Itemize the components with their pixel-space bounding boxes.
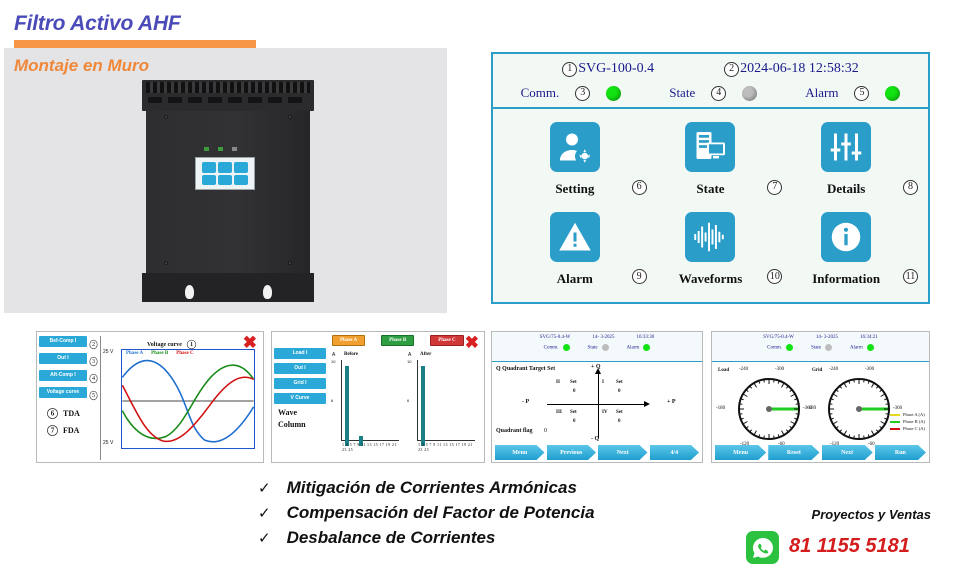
quadrant-title: Q Quadrant Target Set xyxy=(496,366,555,372)
comm-led-indicator xyxy=(786,344,793,351)
feature-item: ✓ Desbalance de Corrientes xyxy=(258,528,595,548)
waveform-icon xyxy=(685,212,735,262)
product-subtitle: Montaje en Muro xyxy=(14,56,149,76)
state-led-indicator xyxy=(825,344,832,351)
menu-label-alarm: Alarm xyxy=(557,271,593,287)
callout-badge-2: 2 xyxy=(89,340,97,349)
quadrant-date-label: 14- 3-2025 xyxy=(592,335,614,340)
callout-badge-3: 3 xyxy=(575,86,590,101)
voltage-curve-legend: Phase A Phase B Phase C xyxy=(126,351,194,356)
screw-icon xyxy=(164,261,168,265)
voltage-axis-max-label: 25 V xyxy=(103,349,113,355)
voltage-axis-min-label: 25 V xyxy=(103,440,113,446)
quadrant-axis-horizontal xyxy=(547,404,647,405)
sidebar-button-voltage-curve[interactable]: Voltage curve xyxy=(39,387,87,398)
chart-unit-label: A xyxy=(408,352,411,358)
dial-title-grid: Grid xyxy=(812,368,822,373)
voltage-curve-sidebar: Bef-Comp I 2 Out I 3 Aft-Comp I 4 Voltag… xyxy=(39,336,101,460)
dial2-tick-360: -360 xyxy=(893,406,902,411)
dial2-tick-180: -180 xyxy=(807,406,816,411)
screenshot-voltage-curve: Bef-Comp I 2 Out I 3 Aft-Comp I 4 Voltag… xyxy=(36,331,264,463)
user-gear-icon xyxy=(550,122,600,172)
sidebar-button-out-i[interactable]: Out I xyxy=(39,353,87,364)
cabinet-hmi-screen xyxy=(195,157,255,190)
sidebar-button-load-i[interactable]: Load I xyxy=(274,348,326,359)
dial1-tick-240: -240 xyxy=(739,367,748,372)
callout-badge-9: 9 xyxy=(632,269,647,284)
sidebar-button-out-i[interactable]: Out I xyxy=(274,363,326,374)
feature-text: Mitigación de Corrientes Armónicas xyxy=(287,478,577,498)
cabinet-body xyxy=(146,111,310,273)
hmi-status-bar: 1 SVG-100-0.4 2 2024-06-18 12:58:32 Comm… xyxy=(493,54,928,109)
axis-label-minus-p: - P xyxy=(522,399,529,405)
phase-tab-group: Phase A Phase B Phase C xyxy=(332,335,464,346)
comm-led-indicator xyxy=(563,344,570,351)
axis-label-plus-q: + Q xyxy=(591,364,601,370)
tab-phase-a[interactable]: Phase A xyxy=(332,335,365,346)
tab-phase-c[interactable]: Phase C xyxy=(430,335,463,346)
product-image-panel: Montaje en Muro xyxy=(4,48,447,313)
screenshot-harmonic-columns: Phase A Phase B Phase C ✖ Load I Out I G… xyxy=(271,331,485,463)
quadrant-value-i[interactable]: 0 xyxy=(618,389,621,394)
axis-arrow-icon xyxy=(644,401,650,407)
screw-icon xyxy=(288,115,292,119)
legend-phase-b: Phase B (A) xyxy=(903,419,925,424)
dial-title-load: Load xyxy=(718,368,729,373)
sliders-icon xyxy=(821,122,871,172)
screw-icon xyxy=(288,261,292,265)
menu-item-state[interactable]: 7 State xyxy=(643,115,779,205)
quadrant-roman-iii: III xyxy=(556,410,562,415)
dial2-tick-240: -240 xyxy=(829,367,838,372)
callout-badge-3: 3 xyxy=(89,357,97,366)
callout-badge-4: 4 xyxy=(89,374,97,383)
chart-caption-after: After xyxy=(420,352,431,357)
legend-phase-c: Phase C (A) xyxy=(903,426,925,431)
voltage-curve-plot: Phase A Phase B Phase C xyxy=(121,349,255,449)
dial1-tick-180: -180 xyxy=(716,406,725,411)
feature-text: Compensación del Factor de Potencia xyxy=(287,503,595,523)
phasor-button-bar: Menu Reset Next Run xyxy=(712,445,929,460)
mounting-hole-icon xyxy=(185,285,194,299)
contact-phone[interactable]: 81 1155 5181 xyxy=(789,535,910,558)
quadrant-value-iv[interactable]: 0 xyxy=(618,419,621,424)
menu-label-waveforms: Waveforms xyxy=(679,271,743,287)
menu-label-details: Details xyxy=(827,181,865,197)
axis-label-minus-q: - Q xyxy=(591,436,599,442)
voltage-curve-title-text: Voltage curve xyxy=(147,342,182,348)
sidebar-item-fda[interactable]: 7 FDA xyxy=(45,423,100,438)
quadrant-set-label-iii: Set xyxy=(570,410,577,415)
screenshot-phasor-dials: SVG/75-0.4-W 14- 3-2025 16:34:21 Comm. S… xyxy=(711,331,930,463)
status-state-label: State xyxy=(669,85,695,101)
quadrant-status-alarm: Alarm xyxy=(627,344,651,351)
feature-text: Desbalance de Corrientes xyxy=(287,528,496,548)
button-run[interactable]: Run xyxy=(875,445,926,460)
check-icon: ✓ xyxy=(258,529,271,547)
sidebar-button-v-curve[interactable]: V Curve xyxy=(274,393,326,404)
button-next[interactable]: Next xyxy=(598,445,648,460)
screw-icon xyxy=(164,115,168,119)
check-icon: ✓ xyxy=(258,504,271,522)
tab-phase-b[interactable]: Phase B xyxy=(381,335,414,346)
quadrant-flag-value[interactable]: 0 xyxy=(544,428,547,434)
server-monitor-icon xyxy=(685,122,735,172)
cabinet-top-vents xyxy=(142,80,314,111)
status-comm: Comm. 3 xyxy=(521,85,622,101)
dial2-tick-300: -300 xyxy=(865,367,874,372)
button-next[interactable]: Next xyxy=(822,445,873,460)
state-led-indicator xyxy=(742,86,757,101)
phasor-time-label: 16:34:21 xyxy=(860,335,878,340)
callout-badge-6: 6 xyxy=(47,408,58,419)
quadrant-value-iii[interactable]: 0 xyxy=(573,419,576,424)
y-tick-10: 10 xyxy=(331,359,335,364)
screenshot-q-quadrant: SVG/75-0.4-W 14- 3-2025 16:33:30 Comm. S… xyxy=(491,331,703,463)
x-axis-ticks: 1 3 5 7 9 11 13 15 17 19 21 23 25 xyxy=(418,442,476,452)
quadrant-status-comm: Comm. xyxy=(544,344,570,351)
sidebar-button-bef-comp-i[interactable]: Bef-Comp I xyxy=(39,336,87,347)
status-state: State 4 xyxy=(669,85,757,101)
phasor-status-state: State xyxy=(811,344,832,351)
callout-badge-1: 1 xyxy=(187,340,196,349)
quadrant-set-label-i: Set xyxy=(616,380,623,385)
info-circle-icon xyxy=(821,212,871,262)
sidebar-label-wave[interactable]: Wave xyxy=(278,408,330,417)
callout-badge-6: 6 xyxy=(632,180,647,195)
menu-label-state: State xyxy=(696,181,724,197)
mounting-hole-icon xyxy=(263,285,272,299)
feature-item: ✓ Compensación del Factor de Potencia xyxy=(258,503,595,523)
bar-order-1 xyxy=(345,366,349,446)
callout-badge-8: 8 xyxy=(903,180,918,195)
sidebar-button-aft-comp-i[interactable]: Aft-Comp I xyxy=(39,370,87,381)
comm-led-indicator xyxy=(606,86,621,101)
hmi-menu-grid: 6 Setting 7 State 8 Details 9 Alarm xyxy=(493,109,928,302)
state-led-indicator xyxy=(602,344,609,351)
whatsapp-icon[interactable] xyxy=(746,531,779,564)
phasor-dial-grid xyxy=(828,378,890,440)
sidebar-label-tda: TDA xyxy=(63,409,80,418)
quadrant-status-bar: SVG/75-0.4-W 14- 3-2025 16:33:30 Comm. S… xyxy=(492,332,702,362)
feature-item: ✓ Mitigación de Corrientes Armónicas xyxy=(258,478,595,498)
status-comm-label: Comm. xyxy=(521,85,560,101)
phasor-legend: Phase A (A) Phase B (A) Phase C (A) xyxy=(890,412,925,433)
vent-grille-icon xyxy=(146,82,310,93)
phasor-model-label: SVG/75-0.4-W xyxy=(763,335,794,340)
menu-label-information: Information xyxy=(812,271,880,287)
page-title: Filtro Activo AHF xyxy=(14,12,181,36)
quadrant-time-label: 16:33:30 xyxy=(637,335,655,340)
dial1-hub xyxy=(766,406,772,412)
harmonic-chart-after: A After 10 6 1 3 5 7 9 11 13 15 17 19 21… xyxy=(408,350,476,456)
quadrant-set-label-ii: Set xyxy=(570,380,577,385)
callout-badge-2: 2 xyxy=(724,62,739,77)
phasor-status-alarm: Alarm xyxy=(850,344,874,351)
button-reset[interactable]: Reset xyxy=(768,445,819,460)
phasor-status-bar: SVG/75-0.4-W 14- 3-2025 16:34:21 Comm. S… xyxy=(712,332,929,362)
quadrant-roman-i: I xyxy=(602,380,604,385)
menu-item-information[interactable]: 11 Information xyxy=(778,205,914,295)
legend-phase-b: Phase B xyxy=(151,351,168,356)
dial2-hub xyxy=(856,406,862,412)
y-tick-10: 10 xyxy=(407,359,411,364)
quadrant-model-label: SVG/75-0.4-W xyxy=(540,335,571,340)
hmi-model-label: SVG-100-0.4 xyxy=(578,61,654,77)
voltage-sine-waves xyxy=(122,350,254,448)
x-axis-ticks: 1 3 5 7 9 11 13 15 17 19 21 23 25 xyxy=(342,442,400,452)
sidebar-label-fda: FDA xyxy=(63,426,79,435)
menu-label-setting: Setting xyxy=(555,181,594,197)
legend-phase-a: Phase A xyxy=(126,351,143,356)
button-menu[interactable]: Menu xyxy=(495,445,545,460)
alarm-led-indicator xyxy=(885,86,900,101)
menu-item-alarm[interactable]: 9 Alarm xyxy=(507,205,643,295)
quadrant-axis-vertical xyxy=(598,372,599,438)
sidebar-item-tda[interactable]: 6 TDA xyxy=(45,406,100,421)
menu-item-setting[interactable]: 6 Setting xyxy=(507,115,643,205)
warning-triangle-icon xyxy=(550,212,600,262)
legend-phase-a: Phase A (A) xyxy=(903,412,925,417)
axis-label-plus-p: + P xyxy=(667,399,676,405)
cabinet-status-leds xyxy=(204,147,246,151)
phasor-dial-load xyxy=(738,378,800,440)
quadrant-button-bar: Menu Previous Next 4/4 xyxy=(492,445,702,460)
button-menu[interactable]: Menu xyxy=(715,445,766,460)
callout-badge-5: 5 xyxy=(854,86,869,101)
hmi-main-screen: 1 SVG-100-0.4 2 2024-06-18 12:58:32 Comm… xyxy=(491,52,930,304)
wall-mounted-cabinet-image xyxy=(142,80,314,302)
button-page-indicator[interactable]: 4/4 xyxy=(650,445,700,460)
menu-item-details[interactable]: 8 Details xyxy=(778,115,914,205)
chart-unit-label: A xyxy=(332,352,335,358)
cabinet-mounting-base xyxy=(142,273,314,302)
hmi-datetime-label: 2024-06-18 12:58:32 xyxy=(740,61,859,77)
menu-item-waveforms[interactable]: 10 Waveforms xyxy=(643,205,779,295)
callout-badge-1: 1 xyxy=(562,62,577,77)
phasor-status-comm: Comm. xyxy=(767,344,793,351)
feature-list: ✓ Mitigación de Corrientes Armónicas ✓ C… xyxy=(258,478,595,553)
vent-slots-icon xyxy=(148,97,308,103)
status-alarm: Alarm 5 xyxy=(805,85,900,101)
sidebar-label-column[interactable]: Column xyxy=(278,420,330,429)
quadrant-roman-ii: II xyxy=(556,380,560,385)
chart-caption-before: Before xyxy=(344,352,358,357)
close-icon[interactable]: ✖ xyxy=(465,334,479,351)
phasor-date-label: 14- 3-2025 xyxy=(816,335,838,340)
callout-badge-4: 4 xyxy=(711,86,726,101)
check-icon: ✓ xyxy=(258,479,271,497)
callout-badge-11: 11 xyxy=(903,269,918,284)
quadrant-flag-label: Quadrant flag xyxy=(496,428,533,434)
callout-badge-7: 7 xyxy=(47,425,58,436)
quadrant-status-state: State xyxy=(588,344,609,351)
contact-title: Proyectos y Ventas xyxy=(812,507,931,522)
y-tick-6: 6 xyxy=(407,398,409,403)
y-tick-6: 6 xyxy=(331,398,333,403)
quadrant-set-label-iv: Set xyxy=(616,410,623,415)
callout-badge-5: 5 xyxy=(89,391,97,400)
quadrant-value-ii[interactable]: 0 xyxy=(573,389,576,394)
quadrant-roman-iv: IV xyxy=(602,410,608,415)
harmonic-sidebar: Load I Out I Grid I V Curve Wave Column xyxy=(274,348,330,429)
sidebar-button-grid-i[interactable]: Grid I xyxy=(274,378,326,389)
status-alarm-label: Alarm xyxy=(805,85,838,101)
legend-phase-c: Phase C xyxy=(176,351,193,356)
callout-badge-7: 7 xyxy=(767,180,782,195)
harmonic-chart-before: A Before 10 6 1 3 5 7 9 11 13 15 17 19 2… xyxy=(332,350,400,456)
button-previous[interactable]: Previous xyxy=(547,445,597,460)
bar-order-1 xyxy=(421,366,425,446)
alarm-led-indicator xyxy=(867,344,874,351)
quadrant-flag-row: Quadrant flag 0 xyxy=(496,428,547,434)
alarm-led-indicator xyxy=(643,344,650,351)
dial1-tick-300: -300 xyxy=(775,367,784,372)
